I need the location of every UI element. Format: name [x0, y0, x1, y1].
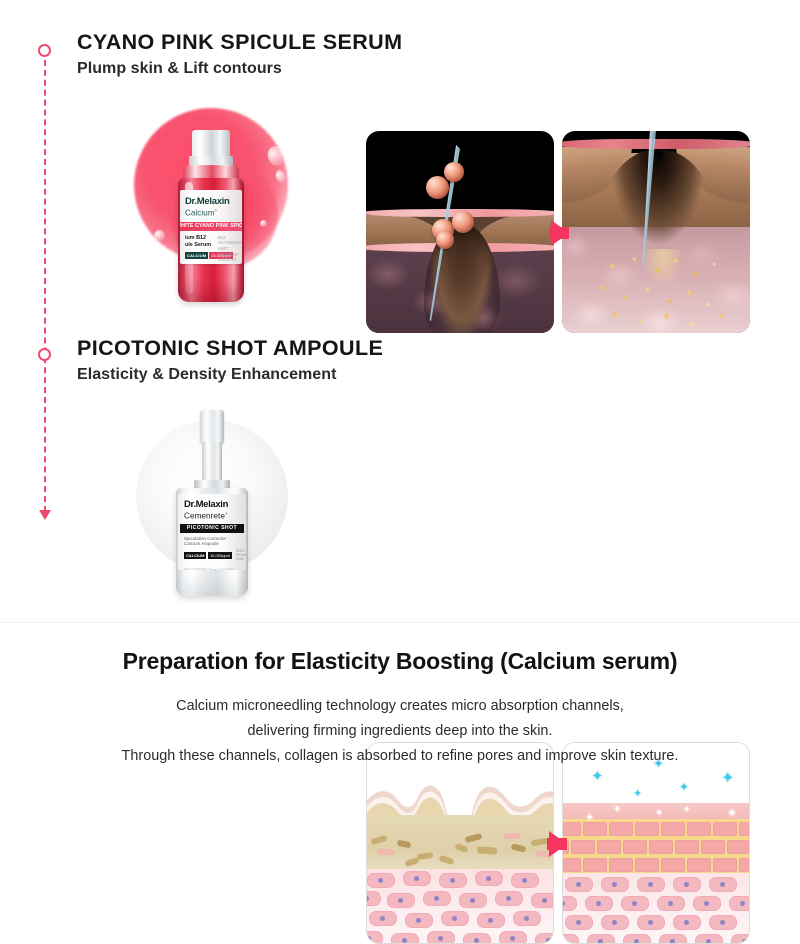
sparkle-icon-cyan: ✦ — [679, 781, 689, 793]
skin-cell — [709, 877, 737, 892]
skin-cell — [391, 933, 419, 944]
cell-nucleus — [632, 901, 637, 906]
figure-firmed-skin-cross-section: ✦ ✦ ✦ ✦ ✦ ✦ ✦ ✦ ✦ ✦ — [562, 742, 750, 944]
section-1-heading: CYANO PINK SPICULE SERUM Plump skin & Li… — [77, 30, 402, 78]
collagen-brick — [635, 822, 659, 836]
timeline-marker-step-1 — [38, 44, 51, 57]
transition-arrow-icon-row-1 — [551, 220, 569, 246]
label-pill-ppm: 15,000ppm — [208, 552, 232, 559]
label-product-line: Calcium+ — [185, 208, 237, 218]
cell-nucleus — [612, 882, 617, 887]
collagen-fiber — [404, 857, 419, 867]
collagen-brick — [687, 858, 711, 872]
figure-needle-over-pore — [366, 131, 554, 333]
calcium-bead — [444, 162, 464, 182]
section-2-title: PICOTONIC SHOT AMPOULE — [77, 336, 383, 361]
figure-needle-penetrating-pore — [562, 131, 750, 333]
skin-cell — [387, 893, 415, 908]
footer-line-2: delivering firming ingredients deep into… — [0, 719, 800, 744]
bottle-label-front: Dr.Melaxin Calcium+ WHITE CYANO PINK SPI… — [180, 190, 242, 264]
footer-divider — [0, 622, 800, 623]
label-black-band: PICOTONIC SHOT — [180, 524, 244, 533]
sparkle-icon-white: ✦ — [585, 813, 594, 824]
label-product-line-text: Cemenrete — [184, 511, 225, 520]
cell-nucleus — [488, 918, 493, 923]
label-superscript: + — [225, 511, 228, 516]
collagen-brick — [609, 858, 633, 872]
collagen-brick — [583, 858, 607, 872]
skin-cell — [475, 871, 503, 886]
highlight-blob-icon — [260, 220, 267, 227]
cell-nucleus — [684, 920, 689, 925]
skin-cell — [513, 911, 541, 926]
skin-cell — [659, 934, 687, 944]
gold-particle-burst — [580, 249, 740, 333]
collagen-fiber — [417, 852, 434, 860]
collagen-brick — [713, 858, 737, 872]
skin-cell — [403, 871, 431, 886]
cell-nucleus — [486, 876, 491, 881]
skin-cell — [427, 931, 455, 944]
timeline-arrow-head-icon — [39, 510, 51, 520]
cell-nucleus — [434, 896, 439, 901]
label-pill-calcium: CALCIUM — [184, 552, 206, 559]
collagen-fiber — [370, 835, 387, 845]
product-2-stage: Dr.Melaxin Cemenrete+ PICOTONIC SHOT Spi… — [110, 398, 310, 620]
sparkle-icon-cyan: ✦ — [653, 757, 664, 770]
skin-cell — [511, 873, 539, 888]
label-product-line: Cemenrete+ — [184, 511, 241, 522]
cell-nucleus — [670, 939, 675, 944]
cell-nucleus — [562, 901, 565, 906]
skin-cell — [695, 934, 723, 944]
label-spec-right-line-4: 1.01 fl. oz. — [218, 257, 242, 263]
footer-title: Preparation for Elasticity Boosting (Cal… — [0, 648, 800, 675]
cell-nucleus — [742, 939, 747, 944]
arrow-tail — [547, 838, 567, 850]
label-tagline: Spiculation Corrector Calcium Ampoule — [184, 536, 241, 546]
skin-cell — [562, 934, 579, 944]
skin-cell — [673, 915, 701, 930]
collagen-fiber — [397, 840, 412, 849]
collagen-fiber — [454, 843, 468, 854]
collagen-brick — [609, 822, 633, 836]
timeline-dashed-rail — [44, 50, 46, 512]
cell-nucleus — [562, 939, 567, 944]
cell-nucleus — [506, 896, 511, 901]
pump-bottle-cyano-pink-spicule-serum: Dr.Melaxin Calcium+ WHITE CYANO PINK SPI… — [170, 130, 252, 308]
skin-cell — [366, 891, 381, 906]
label-pill-note: 100% VEGAN SKIN- — [235, 549, 246, 562]
collagen-brick — [623, 840, 647, 854]
cell-nucleus — [576, 882, 581, 887]
skin-cell — [601, 877, 629, 892]
skin-cell — [565, 877, 593, 892]
label-superscript: + — [215, 208, 218, 213]
cell-nucleus — [740, 901, 745, 906]
cell-nucleus — [398, 898, 403, 903]
dermal-cell-layer — [562, 873, 750, 944]
cell-nucleus — [542, 898, 547, 903]
calcium-bead — [436, 231, 454, 249]
timeline-marker-step-2 — [38, 348, 51, 361]
collagen-brick — [739, 822, 750, 836]
skin-cell — [731, 934, 750, 944]
section-1-subtitle: Plump skin & Lift contours — [77, 60, 402, 78]
collagen-brick — [661, 858, 685, 872]
label-pill-group: CALCIUM 15,000ppm — [185, 252, 213, 259]
skin-cell — [499, 931, 527, 944]
pump-cap — [192, 130, 230, 157]
cell-nucleus — [648, 882, 653, 887]
collagen-brick — [675, 840, 699, 854]
cell-nucleus — [378, 878, 383, 883]
collagen-brick — [727, 840, 750, 854]
footer-line-1: Calcium microneedling technology creates… — [0, 694, 800, 719]
section-2-subtitle: Elasticity & Density Enhancement — [77, 366, 383, 384]
skin-cell — [441, 911, 469, 926]
skin-cell — [587, 934, 615, 944]
cell-nucleus — [720, 882, 725, 887]
cell-nucleus — [546, 938, 551, 943]
collagen-fiber — [465, 833, 483, 843]
sparkle-icon-white: ✦ — [727, 807, 737, 819]
skin-cell — [729, 896, 750, 911]
cell-nucleus — [452, 916, 457, 921]
cell-nucleus — [648, 920, 653, 925]
skin-cell — [562, 896, 577, 911]
collagen-brick — [701, 840, 725, 854]
skin-cell — [709, 915, 737, 930]
cell-nucleus — [634, 939, 639, 944]
collagen-brick — [687, 822, 711, 836]
dropper-bottle-picotonic-shot-ampoule: Dr.Melaxin Cemenrete+ PICOTONIC SHOT Spi… — [166, 410, 258, 606]
sparkle-icon-cyan: ✦ — [721, 771, 734, 787]
label-spec-left: ium B12 ule Serum CALCIUM 15,000ppm — [185, 235, 213, 263]
label-brand: Dr.Melaxin — [184, 500, 241, 510]
cell-nucleus — [720, 920, 725, 925]
cell-nucleus — [366, 896, 369, 901]
label-spec-left-line-2: ule Serum — [185, 242, 213, 249]
footer-line-3: Through these channels, collagen is abso… — [0, 744, 800, 769]
skin-cell — [585, 896, 613, 911]
sparkle-icon-white: ✦ — [655, 809, 663, 819]
skin-cell — [637, 877, 665, 892]
cell-nucleus — [402, 938, 407, 943]
collagen-brick — [562, 858, 581, 872]
cell-nucleus — [596, 901, 601, 906]
sparkle-icon-white: ✦ — [613, 805, 621, 815]
skin-cell — [423, 891, 451, 906]
skin-cell — [693, 896, 721, 911]
cell-nucleus — [474, 938, 479, 943]
calcium-bead — [426, 176, 449, 199]
vertical-step-timeline — [38, 44, 52, 526]
collagen-fiber — [438, 855, 454, 865]
skin-cell — [463, 933, 491, 944]
collagen-brick — [713, 822, 737, 836]
sparkle-icon-cyan: ✦ — [591, 769, 604, 784]
skin-cell — [673, 877, 701, 892]
label-spec-right: B12 SCYANOCOBALAMIN eNET CONTENT 1.01 fl… — [218, 235, 242, 263]
calcium-bead — [452, 211, 474, 233]
arrow-tail — [549, 227, 569, 239]
cell-nucleus — [510, 936, 515, 941]
label-spec-left-line-1: ium B12 — [185, 235, 213, 242]
cell-nucleus — [380, 916, 385, 921]
cell-nucleus — [612, 920, 617, 925]
skin-cell — [637, 915, 665, 930]
collagen-fiber — [510, 843, 526, 852]
cell-nucleus — [706, 939, 711, 944]
collagen-fiber — [377, 848, 396, 856]
collagen-brick — [649, 840, 673, 854]
pink-membrane-line — [562, 139, 750, 149]
label-spec-columns: ium B12 ule Serum CALCIUM 15,000ppm B12 … — [185, 235, 237, 263]
skin-cell — [495, 891, 523, 906]
label-pill-group: CALCIUM 15,000ppm 100% VEGAN SKIN- — [184, 549, 241, 562]
collagen-brick — [583, 822, 607, 836]
label-spec-right-line-3: eNET CONTENT — [218, 246, 242, 257]
skin-cell — [369, 911, 397, 926]
skin-cell — [657, 896, 685, 911]
transition-arrow-icon-row-2 — [549, 831, 567, 857]
cell-nucleus — [366, 936, 371, 941]
skin-cell — [531, 893, 554, 908]
collagen-fiber — [503, 832, 521, 839]
skin-cell — [439, 873, 467, 888]
label-pink-band: WHITE CYANO PINK SPICULE — [180, 222, 242, 231]
skin-cell — [367, 873, 395, 888]
section-1-title: CYANO PINK SPICULE SERUM — [77, 30, 402, 55]
cell-nucleus — [576, 920, 581, 925]
figure-sagging-skin-cross-section — [366, 742, 554, 944]
skin-cell — [477, 913, 505, 928]
collagen-brick — [661, 822, 685, 836]
skin-cell — [621, 896, 649, 911]
skin-cell — [535, 933, 554, 944]
dropper-cap — [200, 410, 224, 444]
cell-nucleus — [438, 936, 443, 941]
skin-cell — [623, 934, 651, 944]
cell-nucleus — [704, 901, 709, 906]
skin-cell — [601, 915, 629, 930]
skin-cell — [405, 913, 433, 928]
footer-body: Calcium microneedling technology creates… — [0, 694, 800, 768]
cell-nucleus — [470, 898, 475, 903]
highlight-blob-icon — [154, 230, 165, 241]
cell-nucleus — [598, 939, 603, 944]
skin-cell — [366, 931, 383, 944]
sparkle-icon-cyan: ✦ — [633, 789, 642, 800]
collagen-brick — [635, 858, 659, 872]
collagen-fiber — [477, 846, 497, 854]
product-1-stage: Dr.Melaxin Calcium+ WHITE CYANO PINK SPI… — [110, 102, 310, 312]
label-product-line-text: Calcium — [185, 208, 215, 217]
cell-nucleus — [416, 918, 421, 923]
label-brand: Dr.Melaxin — [185, 197, 237, 207]
cell-nucleus — [414, 876, 419, 881]
collagen-brick — [597, 840, 621, 854]
sparkle-icon-white: ✦ — [683, 805, 691, 814]
label-footnote: NET CONTENT 30 ml / CALCIUM AMPOULE — [184, 568, 241, 570]
collagen-brick — [571, 840, 595, 854]
section-2-heading: PICOTONIC SHOT AMPOULE Elasticity & Dens… — [77, 336, 383, 384]
skin-cell — [565, 915, 593, 930]
cell-nucleus — [450, 878, 455, 883]
skin-cell — [459, 893, 487, 908]
cell-nucleus — [524, 916, 529, 921]
bottle-label-front: Dr.Melaxin Cemenrete+ PICOTONIC SHOT Spi… — [178, 494, 246, 570]
cell-nucleus — [684, 882, 689, 887]
collagen-brick-wall-organized — [562, 819, 750, 875]
footer-copy-block: Preparation for Elasticity Boosting (Cal… — [0, 648, 800, 768]
label-pill-calcium: CALCIUM — [185, 252, 208, 259]
dermal-cell-layer — [366, 869, 554, 944]
collagen-fiber-layer-disorganized — [366, 815, 554, 873]
cell-nucleus — [668, 901, 673, 906]
collagen-brick — [739, 858, 750, 872]
cell-nucleus — [522, 878, 527, 883]
